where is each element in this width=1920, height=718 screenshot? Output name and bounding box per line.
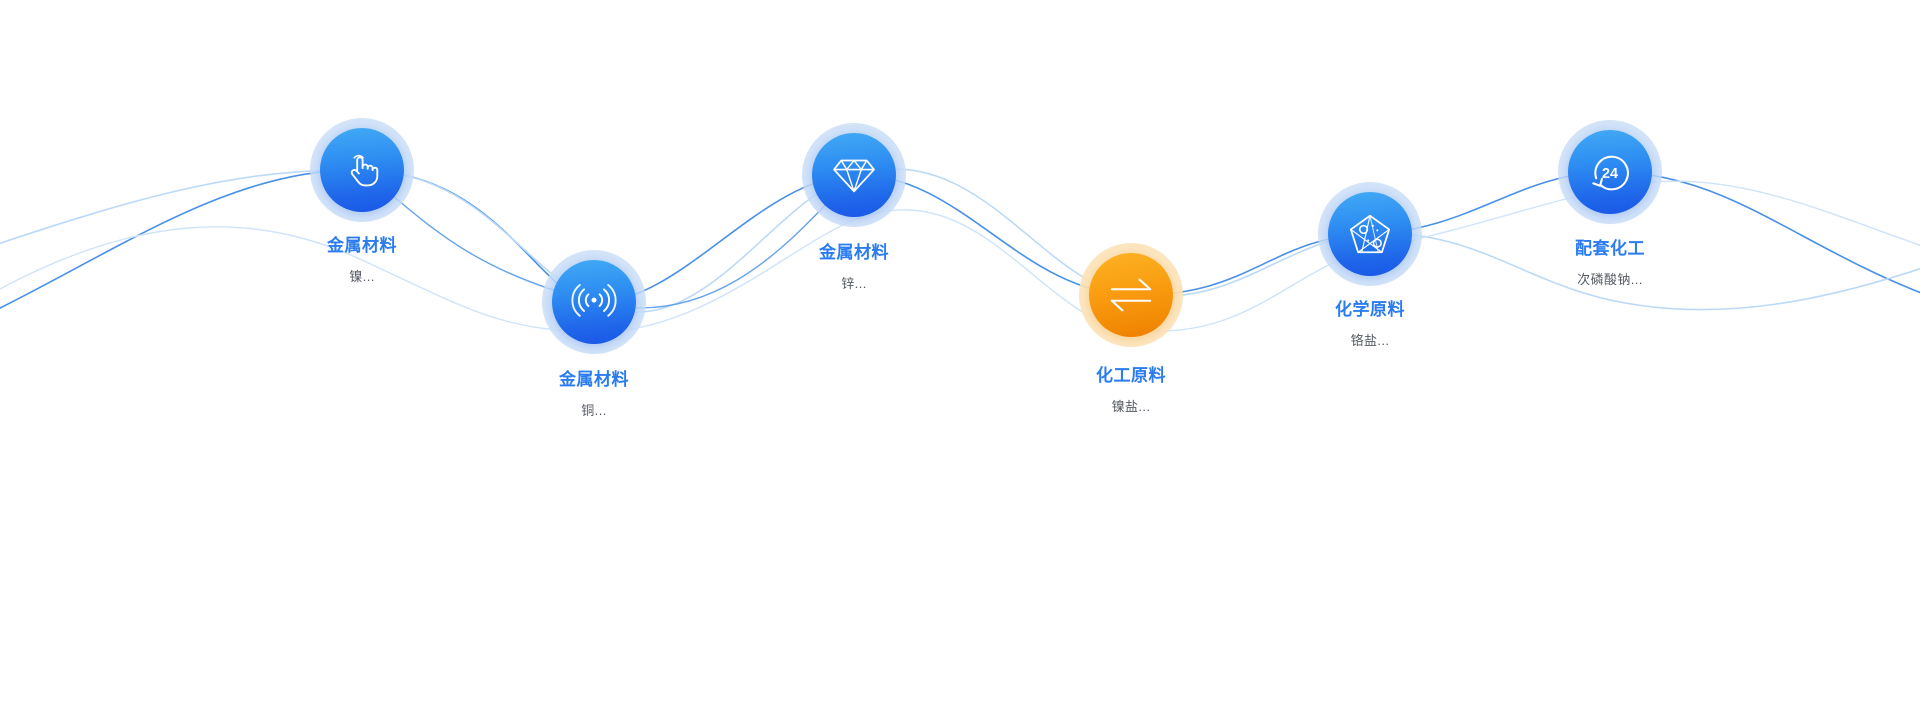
diamond-icon	[832, 155, 876, 195]
node-category-title[interactable]: 金属材料	[559, 371, 629, 388]
node-item-subtitle[interactable]: 铜...	[559, 404, 629, 417]
node-chem-nickel-salt-label: 化工原料镍盐...	[1096, 367, 1166, 413]
node-disc[interactable]: 24	[1568, 130, 1652, 214]
hand-click-icon	[341, 149, 383, 191]
node-item-subtitle[interactable]: 镍...	[327, 270, 397, 283]
exchange-arrows-icon	[1108, 275, 1154, 315]
node-disc[interactable]	[812, 133, 896, 217]
node-disc[interactable]	[1089, 253, 1173, 337]
node-metal-copper-label: 金属材料铜...	[559, 371, 629, 417]
node-disc[interactable]	[1328, 192, 1412, 276]
node-chem-chrome-salt-label: 化学原料铬盐...	[1335, 301, 1405, 347]
node-chem-sodium-hypophosphite-label: 配套化工次磷酸钠...	[1575, 240, 1645, 286]
node-item-subtitle[interactable]: 锌...	[819, 277, 889, 290]
signal-radar-icon	[571, 279, 617, 325]
svg-text:24: 24	[1602, 166, 1618, 182]
node-category-title[interactable]: 配套化工	[1575, 240, 1645, 257]
node-disc[interactable]	[320, 128, 404, 212]
node-item-subtitle[interactable]: 铬盐...	[1335, 334, 1405, 347]
node-disc[interactable]	[552, 260, 636, 344]
molecule-pentagon-icon	[1348, 213, 1392, 255]
24-hour-service-icon: 24	[1587, 149, 1633, 195]
supply-chain-flow-canvas: 24 金属材料镍...金属材料铜...金属材料锌...化工原料镍盐...化学原料…	[0, 0, 1920, 718]
node-category-title[interactable]: 化学原料	[1335, 301, 1405, 318]
background-wave-curves	[0, 0, 1920, 718]
node-category-title[interactable]: 金属材料	[327, 237, 397, 254]
node-metal-nickel-label: 金属材料镍...	[327, 237, 397, 283]
node-metal-zinc-label: 金属材料锌...	[819, 244, 889, 290]
node-category-title[interactable]: 金属材料	[819, 244, 889, 261]
node-category-title[interactable]: 化工原料	[1096, 367, 1166, 384]
node-item-subtitle[interactable]: 次磷酸钠...	[1575, 273, 1645, 286]
node-item-subtitle[interactable]: 镍盐...	[1096, 400, 1166, 413]
